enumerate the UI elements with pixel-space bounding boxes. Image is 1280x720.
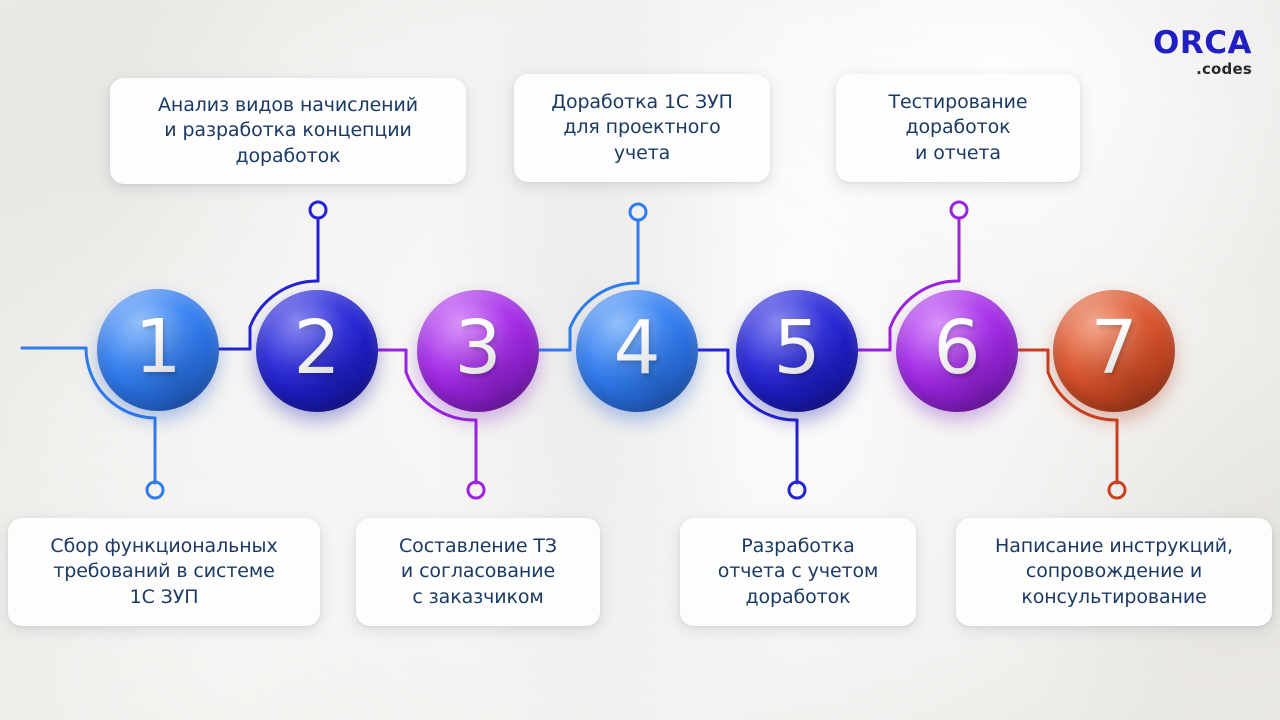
infographic-canvas: ORCA .codes [0,0,1280,720]
step-card-7[interactable]: Написание инструкций, сопровождение и ко… [956,518,1272,626]
step-node-6[interactable]: 6 [896,290,1018,412]
step-card-text-6: Тестирование доработок и отчета [889,90,1028,166]
step-number-6: 6 [933,311,980,385]
step-card-text-1: Сбор функциональных требований в системе… [50,534,277,610]
step-card-1[interactable]: Сбор функциональных требований в системе… [8,518,320,626]
step-card-text-3: Составление ТЗ и согласование с заказчик… [399,534,557,610]
step-card-3[interactable]: Составление ТЗ и согласование с заказчик… [356,518,600,626]
step-card-text-4: Доработка 1С ЗУП для проектного учета [551,90,733,166]
step-number-5: 5 [773,311,820,385]
step-node-3[interactable]: 3 [417,290,539,412]
step-node-5[interactable]: 5 [736,290,858,412]
step-number-1: 1 [134,310,181,384]
step-node-4[interactable]: 4 [576,290,698,412]
step-number-3: 3 [454,311,501,385]
step-card-6[interactable]: Тестирование доработок и отчета [836,74,1080,182]
step-node-7[interactable]: 7 [1053,290,1175,412]
step-card-text-5: Разработка отчета с учетом доработок [718,534,879,610]
step-card-5[interactable]: Разработка отчета с учетом доработок [680,518,916,626]
step-number-7: 7 [1090,311,1137,385]
step-card-text-7: Написание инструкций, сопровождение и ко… [995,534,1233,610]
step-number-4: 4 [613,311,660,385]
step-card-4[interactable]: Доработка 1С ЗУП для проектного учета [514,74,770,182]
step-card-text-2: Анализ видов начислений и разработка кон… [158,93,418,169]
step-node-2[interactable]: 2 [256,290,378,412]
step-number-2: 2 [293,311,340,385]
step-node-1[interactable]: 1 [97,289,219,411]
step-card-2[interactable]: Анализ видов начислений и разработка кон… [110,78,466,184]
